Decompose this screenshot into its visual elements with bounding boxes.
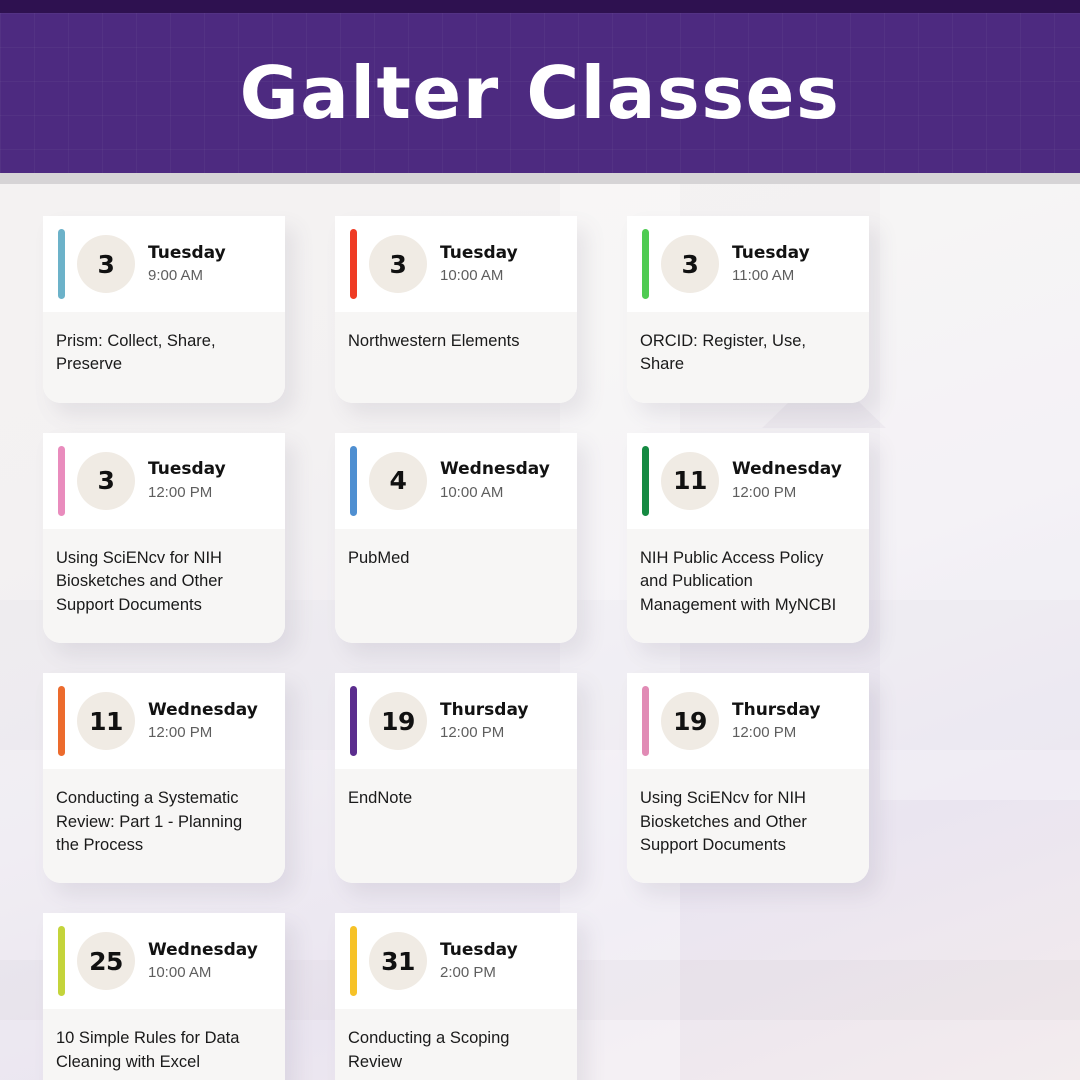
weekday-label: Wednesday	[732, 459, 842, 480]
class-card-body: EndNote	[335, 769, 577, 883]
class-card-header: 25Wednesday10:00 AM	[43, 913, 285, 1009]
class-card-body: Conducting a Scoping Review	[335, 1009, 577, 1080]
class-card-header: 3Tuesday11:00 AM	[627, 216, 869, 312]
class-card-date: Thursday12:00 PM	[732, 700, 821, 743]
class-card[interactable]: 11Wednesday12:00 PMNIH Public Access Pol…	[627, 433, 869, 643]
class-card-date: Tuesday9:00 AM	[148, 243, 226, 286]
class-title: Using SciENcv for NIH Biosketches and Ot…	[640, 787, 853, 857]
day-number-badge: 3	[369, 235, 427, 293]
accent-bar	[58, 229, 65, 299]
class-card-header: 3Tuesday12:00 PM	[43, 433, 285, 529]
class-card-date: Tuesday2:00 PM	[440, 940, 518, 983]
weekday-label: Tuesday	[148, 459, 226, 480]
day-number-badge: 11	[77, 692, 135, 750]
class-card[interactable]: 25Wednesday10:00 AM10 Simple Rules for D…	[43, 913, 285, 1080]
weekday-label: Wednesday	[440, 459, 550, 480]
weekday-label: Thursday	[440, 700, 529, 721]
class-card-header: 19Thursday12:00 PM	[335, 673, 577, 769]
header-divider	[0, 173, 1080, 184]
class-card-date: Wednesday12:00 PM	[148, 700, 258, 743]
class-card-header: 4Wednesday10:00 AM	[335, 433, 577, 529]
day-number-badge: 3	[77, 452, 135, 510]
class-title: Conducting a Systematic Review: Part 1 -…	[56, 787, 269, 857]
class-card-date: Wednesday10:00 AM	[440, 459, 550, 502]
class-title: Using SciENcv for NIH Biosketches and Ot…	[56, 547, 269, 617]
class-title: PubMed	[348, 547, 561, 570]
class-card[interactable]: 3Tuesday11:00 AMORCID: Register, Use, Sh…	[627, 216, 869, 403]
accent-bar	[58, 686, 65, 756]
class-card-date: Wednesday12:00 PM	[732, 459, 842, 502]
class-card[interactable]: 3Tuesday12:00 PMUsing SciENcv for NIH Bi…	[43, 433, 285, 643]
class-title: ORCID: Register, Use, Share	[640, 330, 853, 377]
class-card[interactable]: 19Thursday12:00 PMEndNote	[335, 673, 577, 883]
class-card-body: 10 Simple Rules for Data Cleaning with E…	[43, 1009, 285, 1080]
time-label: 12:00 PM	[732, 483, 842, 503]
class-card-date: Wednesday10:00 AM	[148, 940, 258, 983]
class-title: NIH Public Access Policy and Publication…	[640, 547, 853, 617]
time-label: 9:00 AM	[148, 266, 226, 286]
time-label: 10:00 AM	[440, 483, 550, 503]
class-card-header: 11Wednesday12:00 PM	[43, 673, 285, 769]
class-card[interactable]: 31Tuesday2:00 PMConducting a Scoping Rev…	[335, 913, 577, 1080]
accent-bar	[58, 446, 65, 516]
time-label: 12:00 PM	[440, 723, 529, 743]
accent-bar	[350, 926, 357, 996]
class-title: EndNote	[348, 787, 561, 810]
class-card-date: Tuesday10:00 AM	[440, 243, 518, 286]
class-card-header: 3Tuesday9:00 AM	[43, 216, 285, 312]
class-card-header: 11Wednesday12:00 PM	[627, 433, 869, 529]
weekday-label: Thursday	[732, 700, 821, 721]
class-title: Northwestern Elements	[348, 330, 561, 353]
day-number-badge: 3	[77, 235, 135, 293]
class-schedule-poster: Galter Classes March 3Tuesday9:00 AMPris…	[0, 0, 1080, 1080]
class-card-body: ORCID: Register, Use, Share	[627, 312, 869, 403]
weekday-label: Tuesday	[440, 243, 518, 264]
class-card-body: PubMed	[335, 529, 577, 643]
class-card-body: Using SciENcv for NIH Biosketches and Ot…	[627, 769, 869, 883]
class-card[interactable]: 3Tuesday9:00 AMPrism: Collect, Share, Pr…	[43, 216, 285, 403]
accent-bar	[350, 686, 357, 756]
day-number-badge: 25	[77, 932, 135, 990]
class-card[interactable]: 3Tuesday10:00 AMNorthwestern Elements	[335, 216, 577, 403]
class-card-header: 3Tuesday10:00 AM	[335, 216, 577, 312]
time-label: 12:00 PM	[732, 723, 821, 743]
time-label: 12:00 PM	[148, 483, 226, 503]
class-title: 10 Simple Rules for Data Cleaning with E…	[56, 1027, 269, 1074]
day-number-badge: 4	[369, 452, 427, 510]
weekday-label: Wednesday	[148, 940, 258, 961]
weekday-label: Tuesday	[732, 243, 810, 264]
class-card[interactable]: 4Wednesday10:00 AMPubMed	[335, 433, 577, 643]
time-label: 10:00 AM	[148, 963, 258, 983]
class-card-body: Northwestern Elements	[335, 312, 577, 403]
poster-header: Galter Classes	[0, 13, 1080, 173]
class-card[interactable]: 11Wednesday12:00 PMConducting a Systemat…	[43, 673, 285, 883]
class-card-body: Prism: Collect, Share, Preserve	[43, 312, 285, 403]
time-label: 2:00 PM	[440, 963, 518, 983]
class-card-date: Tuesday11:00 AM	[732, 243, 810, 286]
top-accent-bar	[0, 0, 1080, 13]
day-number-badge: 19	[369, 692, 427, 750]
accent-bar	[350, 229, 357, 299]
time-label: 12:00 PM	[148, 723, 258, 743]
time-label: 11:00 AM	[732, 266, 810, 286]
class-title: Conducting a Scoping Review	[348, 1027, 561, 1074]
accent-bar	[350, 446, 357, 516]
day-number-badge: 11	[661, 452, 719, 510]
weekday-label: Tuesday	[440, 940, 518, 961]
time-label: 10:00 AM	[440, 266, 518, 286]
class-card-date: Thursday12:00 PM	[440, 700, 529, 743]
class-card-body: Using SciENcv for NIH Biosketches and Ot…	[43, 529, 285, 643]
class-card-body: NIH Public Access Policy and Publication…	[627, 529, 869, 643]
page-title: Galter Classes	[240, 57, 841, 129]
accent-bar	[642, 686, 649, 756]
weekday-label: Tuesday	[148, 243, 226, 264]
class-card-header: 31Tuesday2:00 PM	[335, 913, 577, 1009]
class-card[interactable]: 19Thursday12:00 PMUsing SciENcv for NIH …	[627, 673, 869, 883]
day-number-badge: 31	[369, 932, 427, 990]
accent-bar	[642, 229, 649, 299]
accent-bar	[58, 926, 65, 996]
class-card-date: Tuesday12:00 PM	[148, 459, 226, 502]
weekday-label: Wednesday	[148, 700, 258, 721]
class-card-body: Conducting a Systematic Review: Part 1 -…	[43, 769, 285, 883]
accent-bar	[642, 446, 649, 516]
class-title: Prism: Collect, Share, Preserve	[56, 330, 269, 377]
class-card-header: 19Thursday12:00 PM	[627, 673, 869, 769]
day-number-badge: 3	[661, 235, 719, 293]
class-card-grid: 3Tuesday9:00 AMPrism: Collect, Share, Pr…	[43, 216, 1043, 1080]
day-number-badge: 19	[661, 692, 719, 750]
